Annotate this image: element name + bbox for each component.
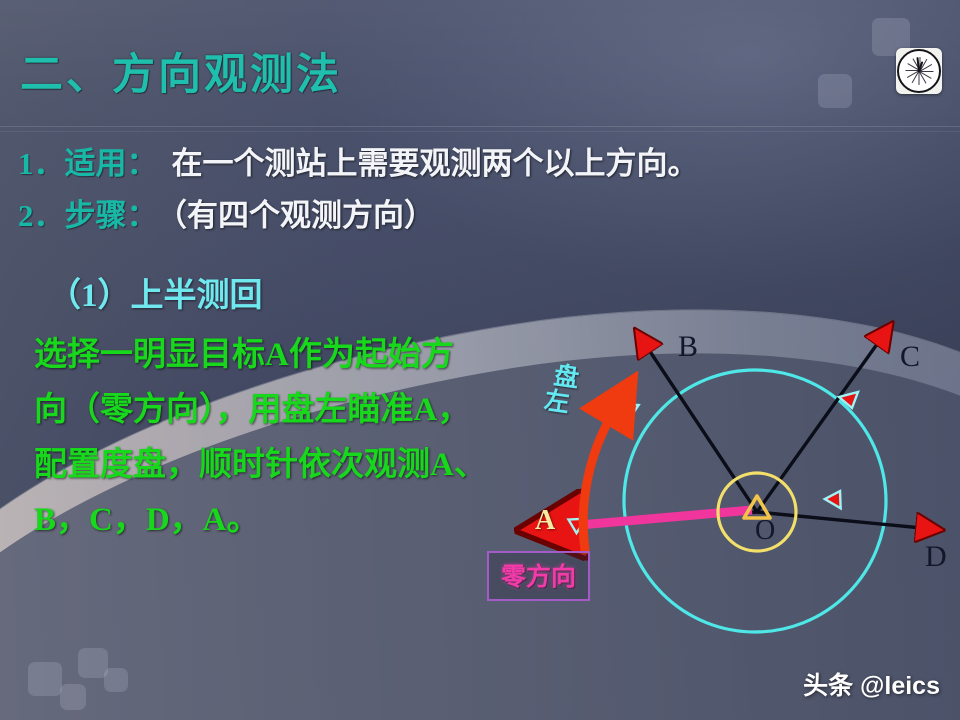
body-line-4: B，C，D，A。 <box>34 492 260 540</box>
bullet-row-2: 2．步骤：（有四个观测方向） <box>18 190 435 235</box>
ray-to-d <box>757 512 922 528</box>
decor-square-top-left <box>818 74 852 108</box>
decor-square-bottom-far <box>104 668 128 692</box>
decor-square-bottom-left <box>28 662 62 696</box>
bullet-1-text: 在一个测站上需要观测两个以上方向。 <box>172 146 699 181</box>
label-direction-b: B <box>678 330 698 364</box>
bullet-2-text: （有四个观测方向） <box>172 198 436 233</box>
label-direction-c: C <box>900 340 920 374</box>
label-station-o: O <box>755 515 775 547</box>
bullet-2-marker: 2．步骤： <box>18 198 158 233</box>
divider-line-lower <box>0 131 960 132</box>
divider-line-upper <box>0 126 960 127</box>
label-direction-d: D <box>925 540 947 574</box>
bullet-row-1: 1．适用：在一个测站上需要观测两个以上方向。 <box>18 138 699 183</box>
page-title: 二、方向观测法 <box>20 40 342 102</box>
label-direction-a: A <box>535 505 555 537</box>
body-line-2: 向（零方向），用盘左瞄准A， <box>34 382 470 430</box>
zero-direction-callout: 零方向 <box>487 551 590 601</box>
bullet-1-marker: 1．适用： <box>18 146 158 181</box>
clock-face <box>897 49 941 93</box>
panzuo-char-2: 左 <box>543 388 577 418</box>
watermark: 头条 @leics <box>803 666 940 702</box>
slide-canvas: 二、方向观测法 1．适用：在一个测站上需要观测两个以上方向。 2．步骤：（有四个… <box>0 0 960 720</box>
zero-direction-label: 零方向 <box>501 564 576 591</box>
sub-heading: （1）上半测回 <box>48 268 263 316</box>
zero-direction-ray <box>568 510 752 526</box>
clock-icon <box>896 48 942 94</box>
body-line-1: 选择一明显目标A作为起始方 <box>34 327 454 375</box>
decor-square-bottom-mid <box>60 684 86 710</box>
rotation-arrow <box>583 413 613 550</box>
body-line-3: 配置度盘，顺时针依次观测A、 <box>34 437 487 485</box>
